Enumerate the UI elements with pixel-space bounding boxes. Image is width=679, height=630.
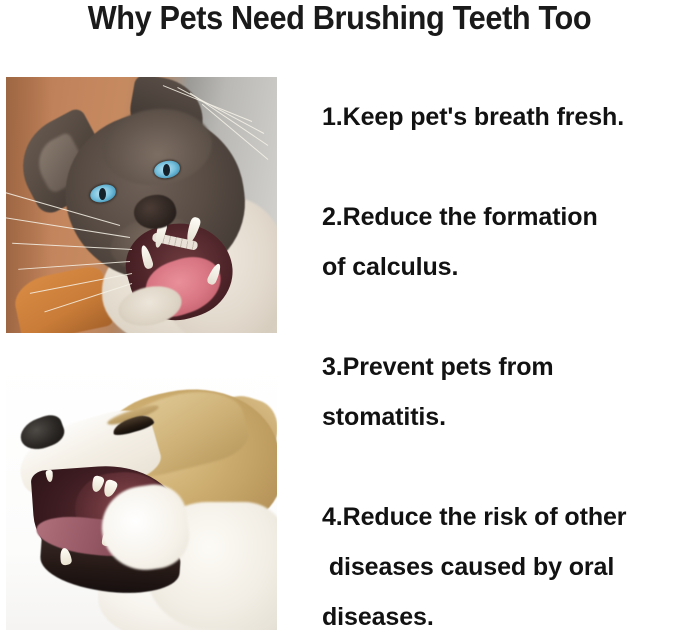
dog-photo xyxy=(6,362,277,630)
benefit-line: of calculus. xyxy=(322,242,679,292)
benefit-line: 1.Keep pet's breath fresh. xyxy=(322,92,679,142)
benefit-line: 2.Reduce the formation xyxy=(322,192,679,242)
infographic-page: Why Pets Need Brushing Teeth Too xyxy=(0,0,679,630)
benefit-spacer xyxy=(322,292,679,342)
cat-left-pupil xyxy=(99,188,106,200)
benefit-line: diseases caused by oral xyxy=(322,542,679,592)
benefit-spacer xyxy=(322,442,679,492)
benefit-line: diseases. xyxy=(322,592,679,630)
benefit-spacer xyxy=(322,142,679,192)
benefit-line: 4.Reduce the risk of other xyxy=(322,492,679,542)
page-title: Why Pets Need Brushing Teeth Too xyxy=(24,0,655,38)
benefit-line: 3.Prevent pets from xyxy=(322,342,679,392)
benefits-list: 1.Keep pet's breath fresh. 2.Reduce the … xyxy=(322,92,679,630)
cat-right-pupil xyxy=(163,164,170,176)
benefit-line: stomatitis. xyxy=(322,392,679,442)
cat-photo xyxy=(6,77,277,333)
